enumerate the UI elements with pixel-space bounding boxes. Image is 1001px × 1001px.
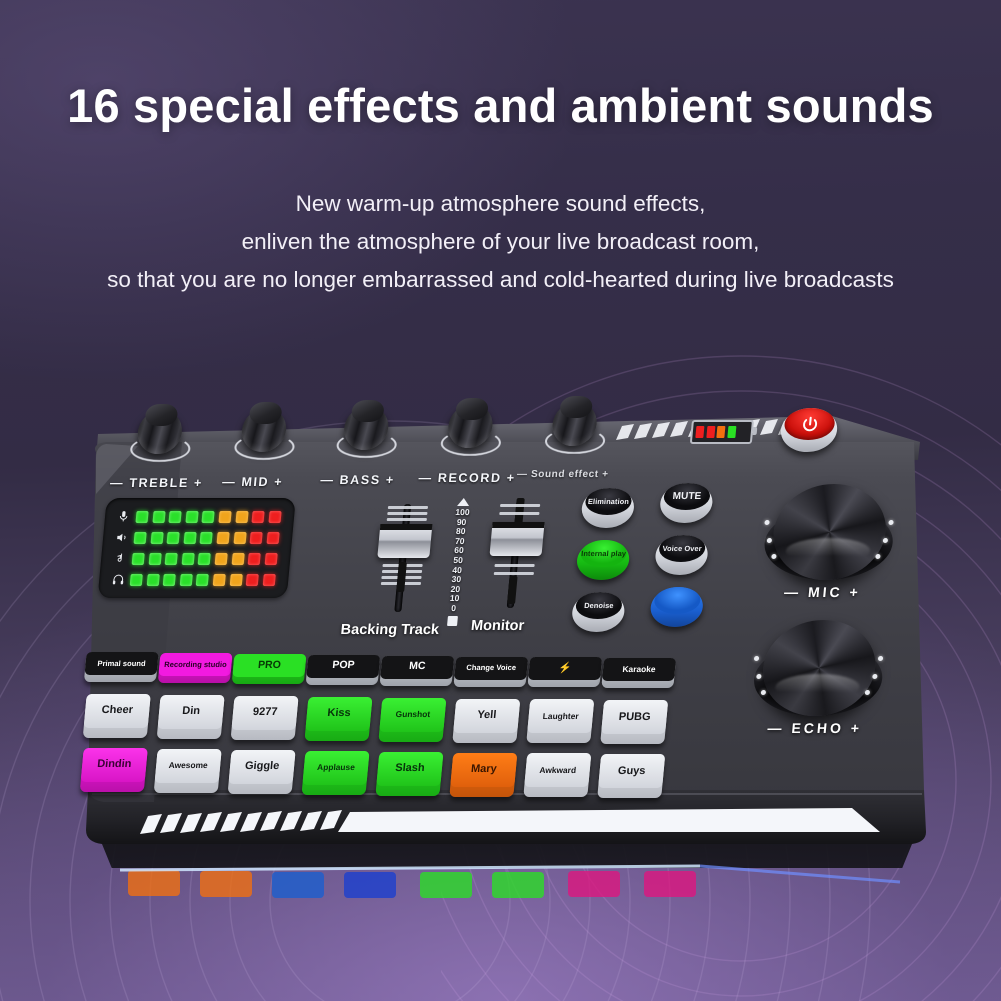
led-cell xyxy=(136,511,149,523)
led-cell xyxy=(165,553,178,565)
led-row-4 xyxy=(107,569,280,590)
pad-label: Recording studio xyxy=(164,660,227,670)
microphone-icon xyxy=(113,509,133,525)
power-button[interactable] xyxy=(779,408,839,452)
subtitle-line-3: so that you are no longer embarrassed an… xyxy=(0,264,1001,296)
device-reflection-pads xyxy=(0,852,1001,952)
knob-echo-label: — ECHO + xyxy=(767,720,863,736)
battery-indicator xyxy=(690,420,754,444)
scale-arrow-icon xyxy=(457,498,470,506)
pad-label: Guys xyxy=(617,767,645,777)
led-cell xyxy=(235,511,248,523)
pad-pro[interactable]: PRO xyxy=(232,654,307,684)
sound-card-device: — TREBLE + — MID + — BASS + xyxy=(62,398,942,868)
led-cell xyxy=(264,553,277,565)
knob-bass[interactable] xyxy=(334,406,397,464)
pad-surface: Guys xyxy=(598,754,665,788)
led-cell xyxy=(217,532,230,544)
knob-record[interactable] xyxy=(438,404,501,462)
knob-sound-effect-name: Sound effect xyxy=(530,469,599,480)
pad-karaoke[interactable]: Karaoke xyxy=(601,658,676,688)
pad-surface: Kiss xyxy=(305,697,372,731)
knob-mic-minus: — xyxy=(783,584,801,600)
pad-surface: Primal sound xyxy=(85,652,159,675)
pad-surface: Giggle xyxy=(229,750,296,784)
knob-sound-effect-label: — Sound effect + xyxy=(516,469,609,480)
knob-echo-minus: — xyxy=(767,720,785,736)
pad-surface: POP xyxy=(306,655,380,678)
pad-label: Giggle xyxy=(245,762,280,772)
pad-label: Yell xyxy=(477,711,497,721)
knob-treble-minus: — xyxy=(110,476,125,490)
pad-slash[interactable]: Slash xyxy=(375,752,443,796)
knob-mic-plus: + xyxy=(849,584,862,600)
pad-surface: Awesome xyxy=(155,749,222,783)
pad-cheer[interactable]: Cheer xyxy=(83,694,151,738)
button-denoise-label: Denoise xyxy=(584,602,614,610)
knob-mid[interactable] xyxy=(232,408,295,466)
pad-label: ⚡ xyxy=(558,664,572,674)
led-cell xyxy=(263,574,276,586)
led-cell xyxy=(233,532,246,544)
headphones-icon xyxy=(108,572,128,588)
pad-awesome[interactable]: Awesome xyxy=(154,749,222,793)
knob-sound-effect-plus: + xyxy=(602,469,609,480)
knob-sound-effect[interactable] xyxy=(542,402,605,460)
led-cell xyxy=(185,511,198,523)
subtitle-line-1: New warm-up atmosphere sound effects, xyxy=(0,188,1001,220)
pad-label: PRO xyxy=(258,661,282,671)
page-title: 16 special effects and ambient sounds xyxy=(0,78,1001,133)
pad-surface: Laughter xyxy=(527,699,594,733)
pad-label: Slash xyxy=(395,764,425,774)
device-top-face: — TREBLE + — MID + — BASS + xyxy=(25,398,942,798)
pad-giggle[interactable]: Giggle xyxy=(228,750,296,794)
subtitle-line-2: enliven the atmosphere of your live broa… xyxy=(0,226,1001,258)
button-elimination-label: Elimination xyxy=(588,498,630,506)
headline-block: 16 special effects and ambient sounds xyxy=(0,78,1001,133)
pad-label: Awkward xyxy=(539,766,576,776)
pad-guys[interactable]: Guys xyxy=(597,754,665,798)
knob-mid-plus: + xyxy=(274,475,284,489)
led-level-matrix xyxy=(98,498,297,598)
led-cell xyxy=(152,511,165,523)
knob-echo[interactable] xyxy=(749,616,888,734)
product-banner: 16 special effects and ambient sounds Ne… xyxy=(0,0,1001,1001)
button-blue-blank[interactable] xyxy=(649,587,705,627)
knob-bass-plus: + xyxy=(385,473,395,487)
led-cell xyxy=(180,574,193,586)
knob-treble[interactable] xyxy=(128,410,191,468)
pad-label: Laughter xyxy=(542,712,579,722)
pad-surface: 9277 xyxy=(231,696,298,730)
pad-dindin[interactable]: Dindin xyxy=(80,748,148,792)
knob-record-plus: + xyxy=(506,471,516,485)
led-cell xyxy=(167,532,180,544)
pad-primal-sound[interactable]: Primal sound xyxy=(84,652,159,682)
pad-surface: Gunshot xyxy=(379,698,446,732)
led-cell xyxy=(169,511,182,523)
led-cell xyxy=(146,574,159,586)
pad-surface: PRO xyxy=(232,654,306,677)
led-cell xyxy=(200,532,213,544)
pad-label: Kiss xyxy=(327,709,351,719)
pad-surface: Applause xyxy=(302,751,369,785)
pad-label: 9277 xyxy=(252,708,277,718)
pad-surface: PUBG xyxy=(601,700,668,734)
pad-awkward[interactable]: Awkward xyxy=(523,753,591,797)
led-cell xyxy=(134,532,147,544)
knob-bass-minus: — xyxy=(320,473,335,487)
led-cell xyxy=(248,553,261,565)
led-cell xyxy=(266,532,279,544)
button-mute[interactable]: MUTE xyxy=(659,483,715,523)
pad-surface: Din xyxy=(158,695,225,729)
pad-surface: Karaoke xyxy=(602,658,676,681)
knob-echo-plus: + xyxy=(850,720,863,736)
pad-label: Awesome xyxy=(168,761,208,771)
pad-surface: Dindin xyxy=(81,748,148,782)
pad-label: Cheer xyxy=(101,706,133,716)
knob-mic-name: MIC xyxy=(807,584,843,600)
knob-mid-label: — MID + xyxy=(222,475,284,489)
led-cell xyxy=(130,574,143,586)
speaker-icon xyxy=(111,530,131,546)
pad-surface: Awkward xyxy=(524,753,591,787)
pad-label: Primal sound xyxy=(97,659,146,669)
pad-surface: Change Voice xyxy=(454,657,528,680)
pad-yell[interactable]: Yell xyxy=(452,699,520,743)
pad-label: MC xyxy=(409,662,426,672)
led-cell xyxy=(202,511,215,523)
pad-label: Applause xyxy=(317,763,356,773)
pad-gunshot[interactable]: Gunshot xyxy=(378,698,446,742)
pad-9277[interactable]: 9277 xyxy=(231,696,299,740)
power-icon xyxy=(799,415,820,434)
button-voice-over[interactable]: Voice Over xyxy=(654,535,710,575)
pad-label: Gunshot xyxy=(395,710,430,720)
led-cell xyxy=(219,511,232,523)
knob-bass-label: — BASS + xyxy=(320,473,396,487)
pad-label: Karaoke xyxy=(622,665,656,675)
button-internal-play[interactable]: Internal play xyxy=(575,540,631,580)
pad-laughter[interactable]: Laughter xyxy=(526,699,594,743)
led-cell xyxy=(246,574,259,586)
button-internal-play-label: Internal play xyxy=(581,550,627,558)
pad-surface: Mary xyxy=(450,753,517,787)
led-cell xyxy=(215,553,228,565)
pad-[interactable]: ⚡ xyxy=(527,657,602,687)
led-cell xyxy=(196,574,209,586)
knob-mid-name: MID xyxy=(241,475,270,489)
scale-end-marker xyxy=(447,616,458,626)
pad-din[interactable]: Din xyxy=(157,695,225,739)
pad-surface: Cheer xyxy=(84,694,151,728)
led-cell xyxy=(231,553,244,565)
pad-surface: MC xyxy=(380,656,454,679)
pad-surface: Slash xyxy=(376,752,443,786)
fader-monitor[interactable] xyxy=(484,498,546,610)
led-cell xyxy=(229,574,242,586)
knob-mid-minus: — xyxy=(222,475,237,489)
button-mute-label: MUTE xyxy=(672,493,701,501)
led-cell xyxy=(198,553,211,565)
pad-label: Din xyxy=(182,707,201,717)
music-note-icon xyxy=(109,551,129,567)
pad-surface: ⚡ xyxy=(528,657,602,680)
knob-echo-name: ECHO xyxy=(791,720,845,736)
pad-kiss[interactable]: Kiss xyxy=(304,697,372,741)
pad-label: Change Voice xyxy=(466,663,517,673)
pad-pubg[interactable]: PUBG xyxy=(600,700,668,744)
pad-pop[interactable]: POP xyxy=(306,655,381,685)
button-elimination[interactable]: Elimination xyxy=(580,488,636,528)
pad-mc[interactable]: MC xyxy=(380,656,455,686)
pad-label: Mary xyxy=(471,765,498,775)
subtitle-block: New warm-up atmosphere sound effects, en… xyxy=(0,188,1001,302)
led-row-3 xyxy=(109,548,282,569)
pad-label: Dindin xyxy=(97,760,132,770)
fader-monitor-label: Monitor xyxy=(470,618,525,634)
fader-scale: 1009080706050403020100 xyxy=(439,498,477,626)
pad-surface: Recording studio xyxy=(158,653,232,676)
fader-scale-tick: 0 xyxy=(440,604,467,614)
led-cell xyxy=(163,574,176,586)
pad-label: PUBG xyxy=(618,713,651,723)
pad-label: POP xyxy=(332,661,355,671)
button-voice-over-label: Voice Over xyxy=(662,545,702,553)
led-cell xyxy=(148,553,161,565)
knob-treble-name: TREBLE xyxy=(129,476,190,490)
knob-sound-effect-minus: — xyxy=(516,469,528,480)
led-cell xyxy=(150,532,163,544)
button-denoise[interactable]: Denoise xyxy=(570,592,626,632)
led-row-2 xyxy=(111,527,284,548)
led-cell xyxy=(132,553,145,565)
led-cell xyxy=(252,511,265,523)
knob-mic-label: — MIC + xyxy=(783,584,861,600)
pad-change-voice[interactable]: Change Voice xyxy=(453,657,528,687)
fader-backing-track[interactable] xyxy=(372,502,434,614)
led-cell xyxy=(213,574,226,586)
led-row-1 xyxy=(113,506,286,527)
led-cell xyxy=(250,532,263,544)
fader-backing-track-label: Backing Track xyxy=(340,622,440,638)
knob-treble-label: — TREBLE + xyxy=(110,476,204,490)
knob-record-minus: — xyxy=(418,471,433,485)
led-cell xyxy=(183,532,196,544)
led-cell xyxy=(181,553,194,565)
pad-applause[interactable]: Applause xyxy=(302,751,370,795)
pad-mary[interactable]: Mary xyxy=(449,753,517,797)
led-cell xyxy=(268,511,281,523)
knob-bass-name: BASS xyxy=(339,473,381,487)
pad-surface: Yell xyxy=(453,699,520,733)
knob-record-label: — RECORD + xyxy=(418,471,516,485)
knob-record-name: RECORD xyxy=(437,471,502,485)
pad-recording-studio[interactable]: Recording studio xyxy=(158,653,233,683)
knob-mic[interactable] xyxy=(760,480,899,598)
knob-treble-plus: + xyxy=(193,476,203,490)
